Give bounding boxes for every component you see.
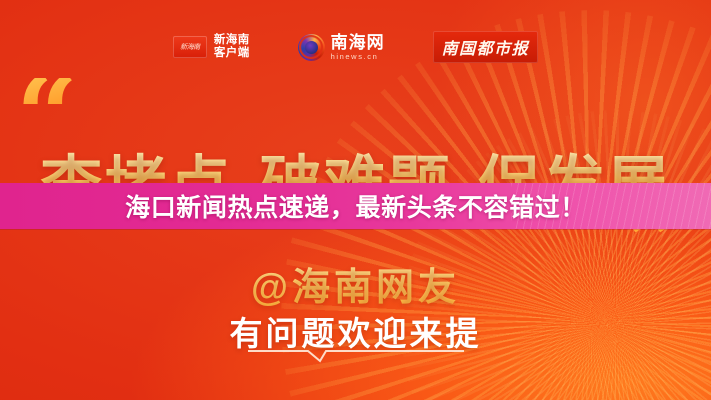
tagline-text: 有问题欢迎来提 — [0, 307, 711, 355]
hinews-name-en: hinews.cn — [331, 52, 385, 61]
news-poster-banner: 新海南 新海南 客户端 南海网 hinews.cn 南国都市报 “ ” 查堵点 … — [0, 0, 711, 400]
xin-hainan-label: 新海南 客户端 — [214, 34, 250, 60]
logo-nanguo-dushibao: 南国都市报 — [433, 31, 539, 63]
xin-hainan-line2: 客户端 — [214, 47, 250, 60]
hinews-label: 南海网 hinews.cn — [331, 34, 385, 61]
hinews-name-cn: 南海网 — [331, 34, 385, 52]
headline-text: 海口新闻热点速递，最新头条不容错过！ — [125, 188, 586, 224]
social-handle: @海南网友 — [0, 256, 711, 311]
xin-hainan-mark-icon: 新海南 — [173, 36, 207, 58]
xin-hainan-line1: 新海南 — [214, 34, 250, 47]
hinews-swirl-icon — [298, 34, 325, 61]
logo-xin-hainan-app: 新海南 新海南 客户端 — [173, 34, 250, 60]
logo-hinews: 南海网 hinews.cn — [298, 34, 385, 61]
headline-band: 海口新闻热点速递，最新头条不容错过！ — [0, 183, 711, 229]
nanguo-dushibao-wordmark: 南国都市报 — [433, 31, 539, 63]
media-logo-strip: 新海南 新海南 客户端 南海网 hinews.cn 南国都市报 — [0, 24, 711, 70]
